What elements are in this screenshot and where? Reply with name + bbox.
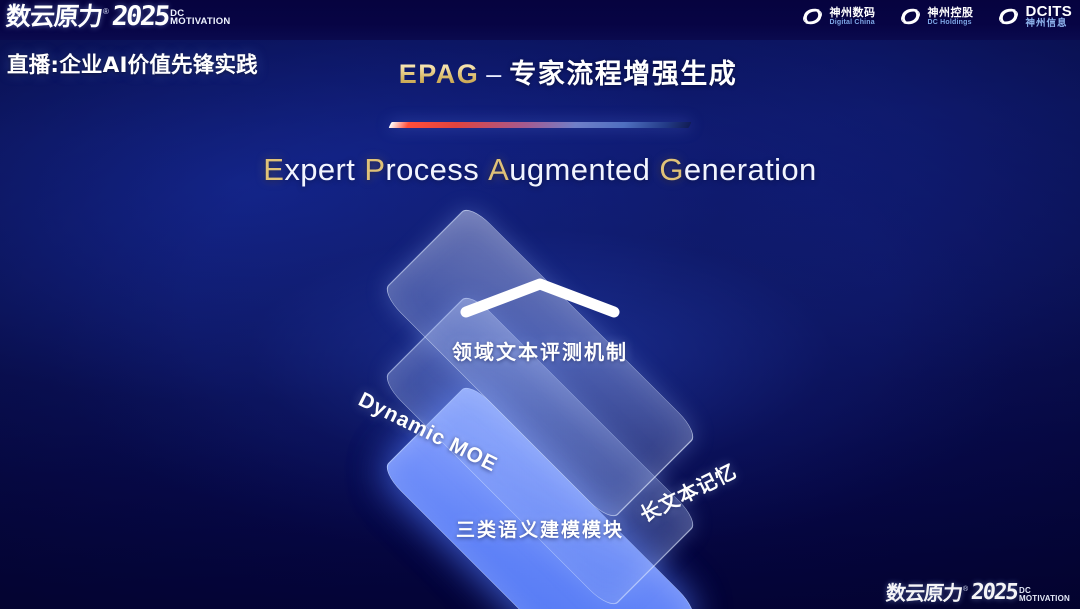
brand-logo-chinese: 数云原力	[5, 4, 103, 29]
partner-logo-text: 神州数码 Digital China	[830, 7, 876, 25]
subtitle-cap-g: G	[659, 152, 684, 187]
live-stream-title: 直播:企业AI价值先锋实践	[7, 48, 258, 79]
partner-logo-text: 神州控股 DC Holdings	[928, 7, 974, 25]
diagram-label-bottom: 三类语义建模模块	[456, 515, 624, 542]
brand-logo-year: 2025	[111, 3, 170, 30]
brand-logo-tagline: DC MOTIVATION	[170, 10, 230, 27]
slide-canvas: 数云原力 ® 2025 DC MOTIVATION 神州数码 Digital C…	[0, 0, 1080, 609]
partner-logo-digital-china: 神州数码 Digital China	[800, 4, 876, 29]
page-title-chinese: 专家流程增强生成	[509, 59, 737, 90]
watermark-logo-registered-mark: ®	[963, 586, 968, 593]
watermark-logo-year: 2025	[970, 582, 1018, 604]
diagram-label-top: 领域文本评测机制	[452, 336, 628, 365]
partner-name-en: Digital China	[830, 19, 876, 26]
swirl-logo-icon	[996, 4, 1021, 29]
page-title-acronym: EPAG	[399, 59, 480, 89]
subtitle-rest-process: rocess	[385, 152, 479, 187]
partner-name-cn: 神州数码	[830, 7, 876, 18]
layered-architecture-diagram: 领域文本评测机制 Dynamic MOE 长文本记忆 三类语义建模模块	[305, 238, 775, 568]
header-bar: 数云原力 ® 2025 DC MOTIVATION 神州数码 Digital C…	[0, 0, 1080, 40]
subtitle-cap-a: A	[488, 152, 509, 187]
partner-name-en: DC Holdings	[928, 19, 974, 26]
brand-logo-tagline-line2: MOTIVATION	[170, 18, 230, 27]
partner-name-en: DCITS	[1026, 4, 1073, 19]
page-title-dash: –	[486, 59, 502, 89]
watermark-logo-tagline: DC MOTIVATION	[1019, 587, 1070, 602]
footer-watermark-logo: 数云原力 ® 2025 DC MOTIVATION	[886, 581, 1070, 603]
subtitle-rest-augmented: ugmented	[509, 152, 650, 187]
gradient-divider	[389, 122, 692, 128]
partner-name-cn: 神州信息	[1026, 19, 1073, 29]
partner-logo-text: DCITS 神州信息	[1026, 4, 1073, 29]
partner-logo-group: 神州数码 Digital China 神州控股 DC Holdings	[800, 4, 1073, 29]
brand-logo: 数云原力 ® 2025 DC MOTIVATION	[6, 2, 230, 29]
watermark-logo-tagline-line2: MOTIVATION	[1019, 595, 1070, 602]
subtitle-rest-generation: eneration	[684, 152, 817, 187]
partner-logo-dc-holdings: 神州控股 DC Holdings	[898, 4, 974, 29]
brand-logo-registered-mark: ®	[103, 7, 109, 16]
partner-logo-dcits: DCITS 神州信息	[996, 4, 1073, 29]
page-subtitle: Expert Process Augmented Generation	[0, 152, 1080, 188]
partner-name-cn: 神州控股	[928, 7, 974, 18]
swirl-logo-icon	[800, 4, 825, 29]
swirl-logo-icon	[898, 4, 923, 29]
subtitle-cap-e: E	[263, 152, 284, 187]
subtitle-rest-expert: xpert	[284, 152, 355, 187]
subtitle-cap-p: P	[364, 152, 385, 187]
chevron-up-icon	[456, 274, 624, 320]
watermark-logo-chinese: 数云原力	[885, 583, 963, 603]
